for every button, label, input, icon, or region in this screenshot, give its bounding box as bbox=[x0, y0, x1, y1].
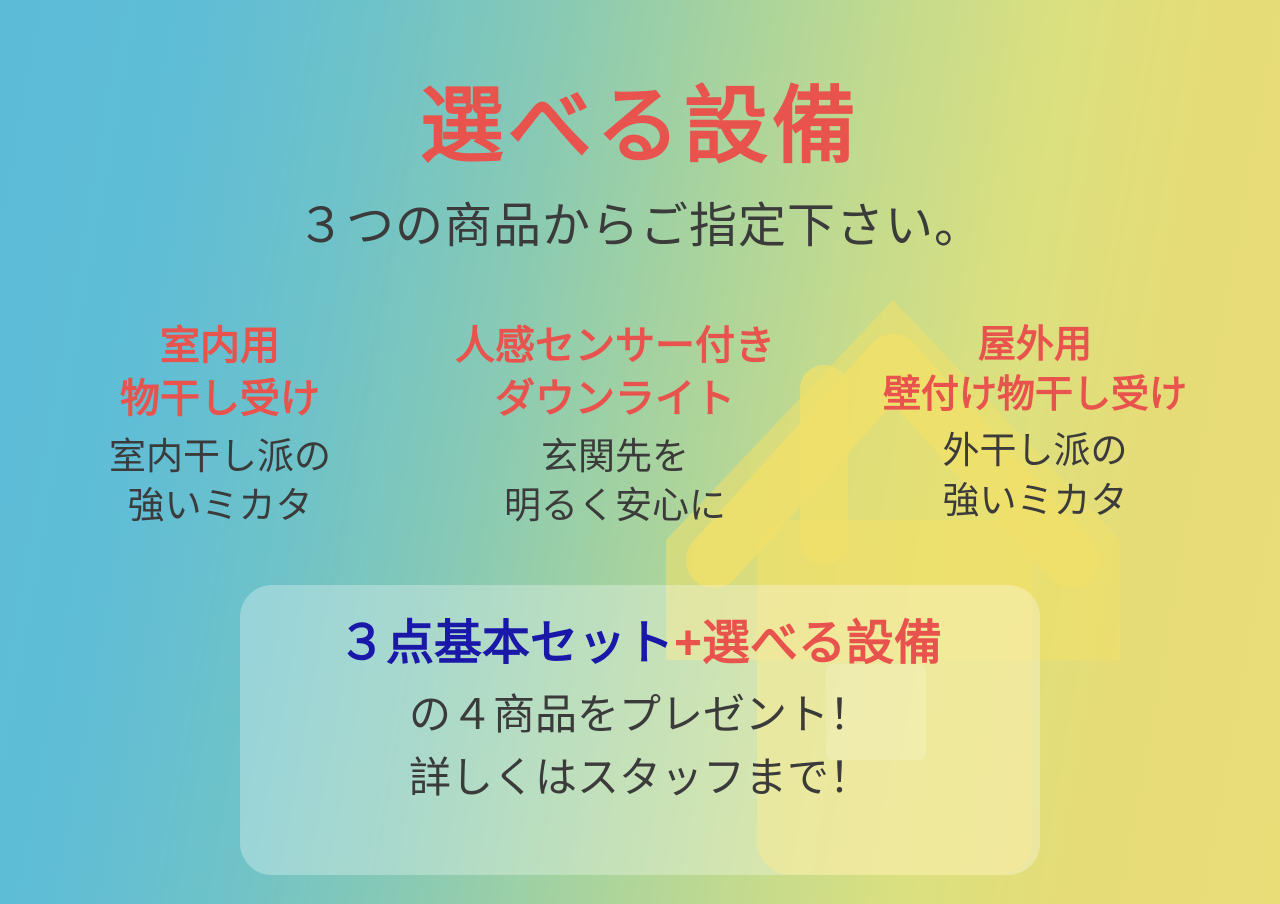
option-description: 室内干し派の 強いミカタ bbox=[30, 432, 410, 531]
option-item-indoor[interactable]: 室内用 物干し受け 室内干し派の 強いミカタ bbox=[30, 320, 410, 531]
page-subtitle: ３つの商品からご指定下さい。 bbox=[0, 203, 1280, 251]
option-item-downlight[interactable]: 人感センサー付き ダウンライト 玄関先を 明るく安心に bbox=[415, 320, 815, 531]
option-title-line2: ダウンライト bbox=[415, 373, 815, 426]
option-desc-line1: 外干し派の bbox=[820, 426, 1250, 476]
option-title: 屋外用 壁付け物干し受け bbox=[820, 320, 1250, 420]
promo-block: ３点基本セット+選べる設備 の４商品をプレゼント！ 詳しくはスタッフまで！ bbox=[240, 618, 1040, 803]
promo-headline-option: 選べる設備 bbox=[702, 617, 942, 670]
option-desc-line2: 明るく安心に bbox=[415, 481, 815, 531]
option-title-line1: 人感センサー付き bbox=[415, 320, 815, 373]
promo-poster: 選べる設備 ３つの商品からご指定下さい。 室内用 物干し受け 室内干し派の 強い… bbox=[0, 0, 1280, 904]
option-description: 玄関先を 明るく安心に bbox=[415, 432, 815, 531]
option-desc-line1: 玄関先を bbox=[415, 432, 815, 482]
promo-headline-base: ３点基本セット bbox=[338, 617, 674, 670]
page-title: 選べる設備 bbox=[0, 84, 1280, 168]
option-item-outdoor[interactable]: 屋外用 壁付け物干し受け 外干し派の 強いミカタ bbox=[820, 320, 1250, 531]
option-desc-line1: 室内干し派の bbox=[30, 432, 410, 482]
option-title-line1: 屋外用 bbox=[820, 320, 1250, 370]
option-title-line2: 壁付け物干し受け bbox=[820, 370, 1250, 420]
option-title: 人感センサー付き ダウンライト bbox=[415, 320, 815, 426]
option-desc-line2: 強いミカタ bbox=[30, 481, 410, 531]
promo-headline-plus: + bbox=[674, 617, 702, 670]
option-desc-line2: 強いミカタ bbox=[820, 476, 1250, 526]
option-title-line1: 室内用 bbox=[30, 320, 410, 373]
promo-headline: ３点基本セット+選べる設備 bbox=[240, 618, 1040, 671]
option-list: 室内用 物干し受け 室内干し派の 強いミカタ 人感センサー付き ダウンライト 玄… bbox=[0, 320, 1280, 531]
option-description: 外干し派の 強いミカタ bbox=[820, 426, 1250, 525]
option-title: 室内用 物干し受け bbox=[30, 320, 410, 426]
promo-line-2: の４商品をプレゼント！ bbox=[240, 689, 1040, 740]
promo-line-3: 詳しくはスタッフまで！ bbox=[240, 752, 1040, 803]
option-title-line2: 物干し受け bbox=[30, 373, 410, 426]
